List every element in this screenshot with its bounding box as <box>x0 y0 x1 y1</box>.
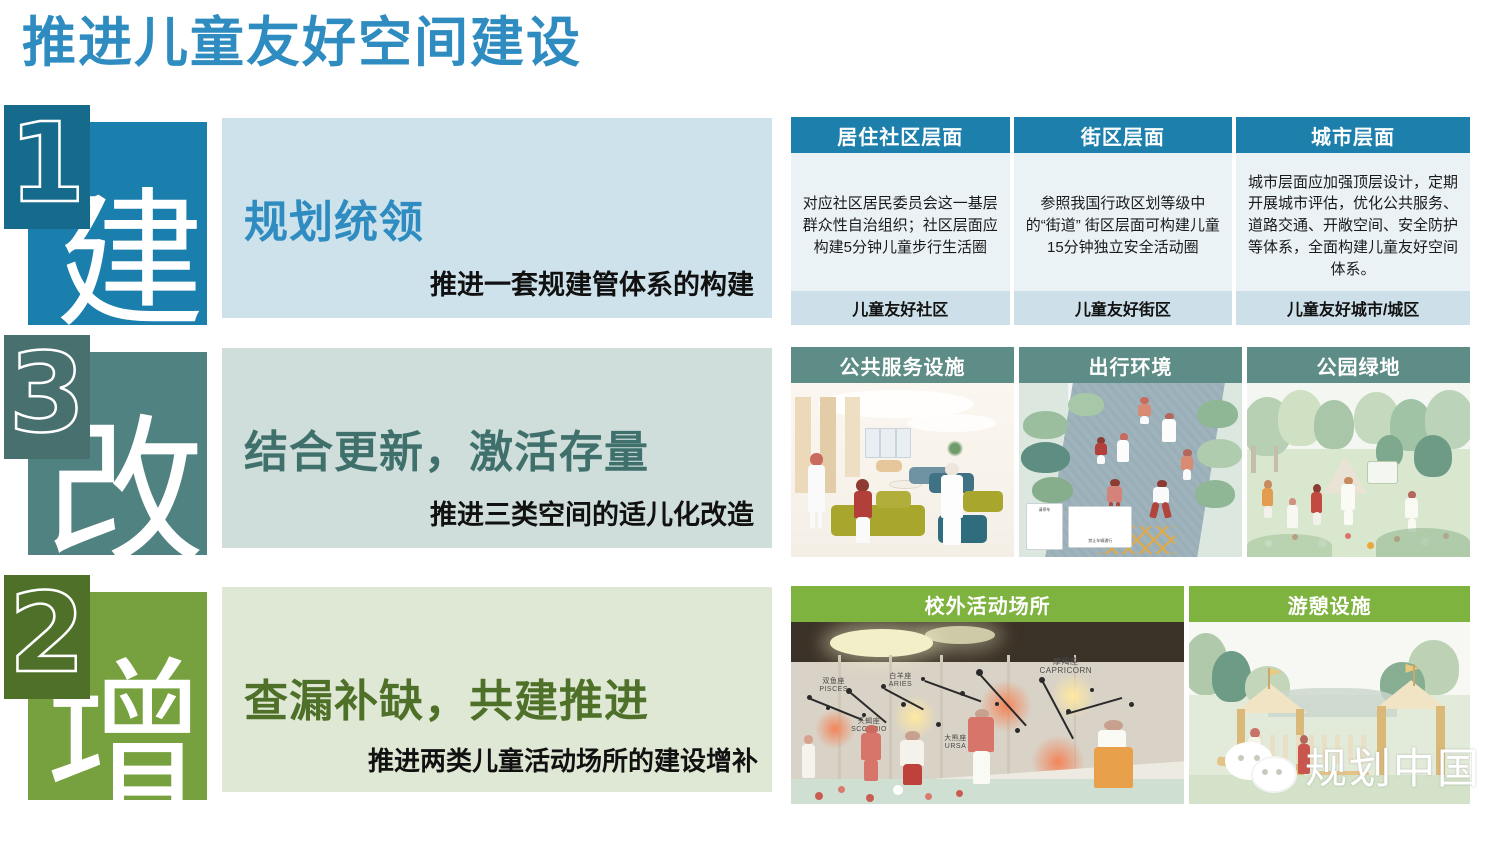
illustration-playground-pavilions <box>1189 622 1470 804</box>
row-2-number-badge: 3 <box>4 335 90 459</box>
row-2-text-panel: 结合更新，激活存量 推进三类空间的适儿化改造 <box>222 348 772 548</box>
row-3-subline: 推进两类儿童活动场所的建设增补 <box>368 741 758 778</box>
constellation-label: 双鱼座PISCES <box>811 678 857 693</box>
illustration-constellation-wall: 双鱼座PISCES 白羊座ARIES 天蝎座SCORPIO 大熊座URSA 摩羯… <box>791 622 1184 804</box>
level-footer: 儿童友好社区 <box>791 291 1010 325</box>
image-card-header: 校外活动场所 <box>791 586 1184 622</box>
row-3-headline: 查漏补缺，共建推进 <box>244 665 649 729</box>
image-grid-supplement: 校外活动场所 <box>791 586 1470 804</box>
level-header: 居住社区层面 <box>791 117 1010 153</box>
image-card-header: 公共服务设施 <box>791 347 1014 383</box>
level-table: 居住社区层面 对应社区居民委员会这一基层群众性自治组织；社区层面应构建5分钟儿童… <box>791 117 1470 325</box>
row-1-headline: 规划统领 <box>244 186 424 250</box>
illustration-street-travel-environment: 请停车 禁止车辆通行 <box>1019 383 1242 557</box>
level-footer: 儿童友好城市/城区 <box>1236 291 1470 325</box>
level-header: 城市层面 <box>1236 117 1470 153</box>
level-footer: 儿童友好街区 <box>1014 291 1233 325</box>
row-1-number: 1 <box>9 108 86 218</box>
level-column-block: 街区层面 参照我国行政区划等级中的“街道” 街区层面可构建儿童15分钟独立安全活… <box>1014 117 1233 325</box>
row-1-number-badge: 1 <box>4 105 90 229</box>
image-card-public-services: 公共服务设施 <box>791 347 1014 557</box>
section-row-1: 1 建 规划统领 推进一套规建管体系的构建 居住社区层面 对应社区居民委员会这一… <box>0 105 1500 333</box>
constellation-label: 摩羯座CAPRICORN <box>1035 658 1097 676</box>
level-column-community: 居住社区层面 对应社区居民委员会这一基层群众性自治组织；社区层面应构建5分钟儿童… <box>791 117 1010 325</box>
image-card-header: 出行环境 <box>1019 347 1242 383</box>
row-3-text-panel: 查漏补缺，共建推进 推进两类儿童活动场所的建设增补 <box>222 587 772 792</box>
slide-root: 推进儿童友好空间建设 1 建 规划统领 推进一套规建管体系的构建 居住社区层面 … <box>0 0 1500 843</box>
street-sign-label: 请停车 <box>1027 507 1063 513</box>
constellation-label: 白羊座ARIES <box>877 673 923 688</box>
image-card-header: 公园绿地 <box>1247 347 1470 383</box>
image-card-park-green: 公园绿地 <box>1247 347 1470 557</box>
row-2-number: 3 <box>9 338 86 448</box>
image-card-header: 游憩设施 <box>1189 586 1470 622</box>
row-1-text-panel: 规划统领 推进一套规建管体系的构建 <box>222 118 772 318</box>
row-2-headline: 结合更新，激活存量 <box>244 416 649 480</box>
row-3-number-badge: 2 <box>4 575 90 699</box>
level-body: 城市层面应加强顶层设计，定期开展城市评估，优化公共服务、道路交通、开敞空间、安全… <box>1236 153 1470 291</box>
street-sign-label: 禁止车辆通行 <box>1069 538 1131 544</box>
level-body: 对应社区居民委员会这一基层群众性自治组织；社区层面应构建5分钟儿童步行生活圈 <box>791 153 1010 291</box>
illustration-indoor-community-room <box>791 383 1014 557</box>
image-card-travel-environment: 出行环境 <box>1019 347 1242 557</box>
image-card-after-school-venue: 校外活动场所 <box>791 586 1184 804</box>
row-3-number: 2 <box>9 578 86 688</box>
level-header: 街区层面 <box>1014 117 1233 153</box>
image-card-recreation-facility: 游憩设施 <box>1189 586 1470 804</box>
row-2-subline: 推进三类空间的适儿化改造 <box>430 493 754 532</box>
page-title: 推进儿童友好空间建设 <box>22 16 582 70</box>
level-column-city: 城市层面 城市层面应加强顶层设计，定期开展城市评估，优化公共服务、道路交通、开敞… <box>1236 117 1470 325</box>
illustration-park-green-space <box>1247 383 1470 557</box>
row-1-subline: 推进一套规建管体系的构建 <box>430 263 754 302</box>
level-body: 参照我国行政区划等级中的“街道” 街区层面可构建儿童15分钟独立安全活动圈 <box>1014 153 1233 291</box>
image-grid-renewal: 公共服务设施 <box>791 347 1470 557</box>
